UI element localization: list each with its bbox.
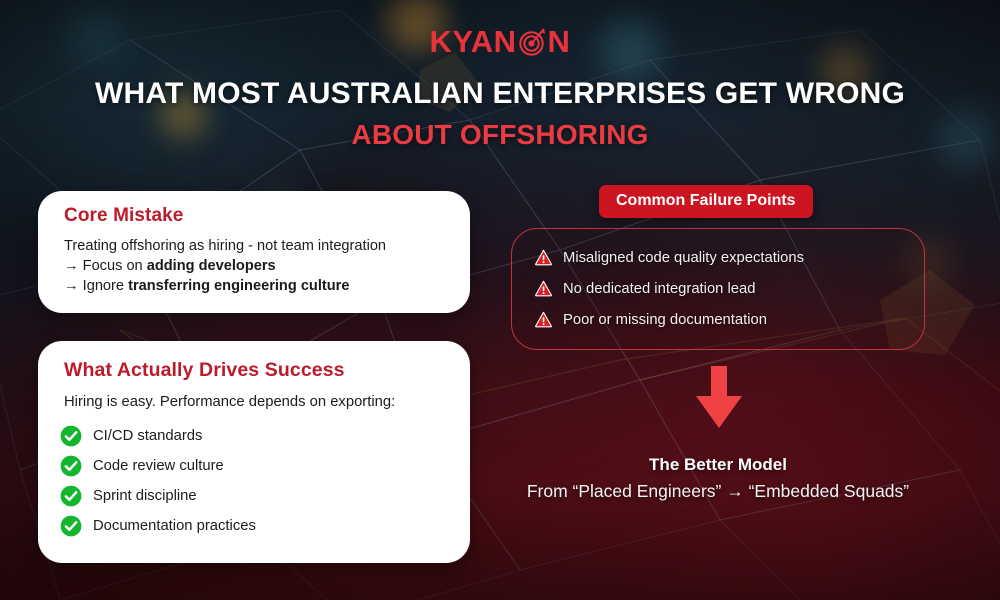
common-failure-points-badge: Common Failure Points (599, 185, 813, 218)
check-circle-icon (60, 515, 82, 537)
list-item-label: Code review culture (93, 458, 224, 474)
core-mistake-body: Treating offshoring as hiring - not team… (64, 236, 470, 296)
success-drivers-card: What Actually Drives Success Hiring is e… (38, 341, 470, 563)
page-title: WHAT MOST AUSTRALIAN ENTERPRISES GET WRO… (0, 76, 1000, 152)
list-item-label: Misaligned code quality expectations (563, 250, 804, 266)
logo-text-after: N (548, 26, 571, 57)
success-drivers-title: What Actually Drives Success (64, 359, 470, 382)
core-mistake-line-1: Treating offshoring as hiring - not team… (64, 236, 470, 256)
list-item-label: CI/CD standards (93, 428, 202, 444)
list-item: CI/CD standards (60, 421, 470, 451)
list-item-label: No dedicated integration lead (563, 281, 756, 297)
list-item: Code review culture (60, 451, 470, 481)
core-mistake-line-2-strong: adding developers (147, 258, 276, 274)
title-line-2: ABOUT OFFSHORING (0, 118, 1000, 152)
check-circle-icon (60, 455, 82, 477)
core-mistake-title: Core Mistake (64, 205, 470, 227)
warning-triangle-icon (535, 311, 552, 328)
warning-triangle-icon (535, 280, 552, 297)
title-line-1: WHAT MOST AUSTRALIAN ENTERPRISES GET WRO… (0, 76, 1000, 112)
list-item-label: Poor or missing documentation (563, 312, 767, 328)
better-model-title: The Better Model (478, 455, 958, 475)
logo-text-before: KYAN (430, 26, 517, 57)
list-item-label: Sprint discipline (93, 488, 197, 504)
list-item: No dedicated integration lead (535, 273, 924, 304)
list-item: Misaligned code quality expectations (535, 242, 924, 273)
core-mistake-line-3: → Ignore transferring engineering cultur… (64, 276, 470, 296)
warning-triangle-icon (535, 249, 552, 266)
list-item-label: Documentation practices (93, 518, 256, 534)
list-item: Sprint discipline (60, 481, 470, 511)
list-item: Documentation practices (60, 511, 470, 541)
infographic-canvas: KYAN N WHAT MOST AUSTRALIAN ENTERPRISES … (0, 0, 1000, 600)
target-bullseye-arrow-icon (518, 27, 547, 56)
better-model-subtitle: From “Placed Engineers” → “Embedded Squa… (458, 481, 978, 502)
success-drivers-list: CI/CD standards Code review culture Spri… (60, 421, 470, 541)
check-circle-icon (60, 425, 82, 447)
core-mistake-line-3-strong: transferring engineering culture (128, 278, 349, 294)
arrow-down-icon (691, 366, 747, 435)
list-item: Poor or missing documentation (535, 304, 924, 335)
core-mistake-line-2-prefix: → Focus on (64, 258, 147, 274)
core-mistake-card: Core Mistake Treating offshoring as hiri… (38, 191, 470, 313)
check-circle-icon (60, 485, 82, 507)
success-drivers-lead: Hiring is easy. Performance depends on e… (64, 394, 470, 410)
failure-points-box: Misaligned code quality expectations No … (511, 228, 925, 350)
brand-logo: KYAN N (0, 26, 1000, 57)
core-mistake-line-2: → Focus on adding developers (64, 256, 470, 276)
core-mistake-line-3-prefix: → Ignore (64, 278, 128, 294)
